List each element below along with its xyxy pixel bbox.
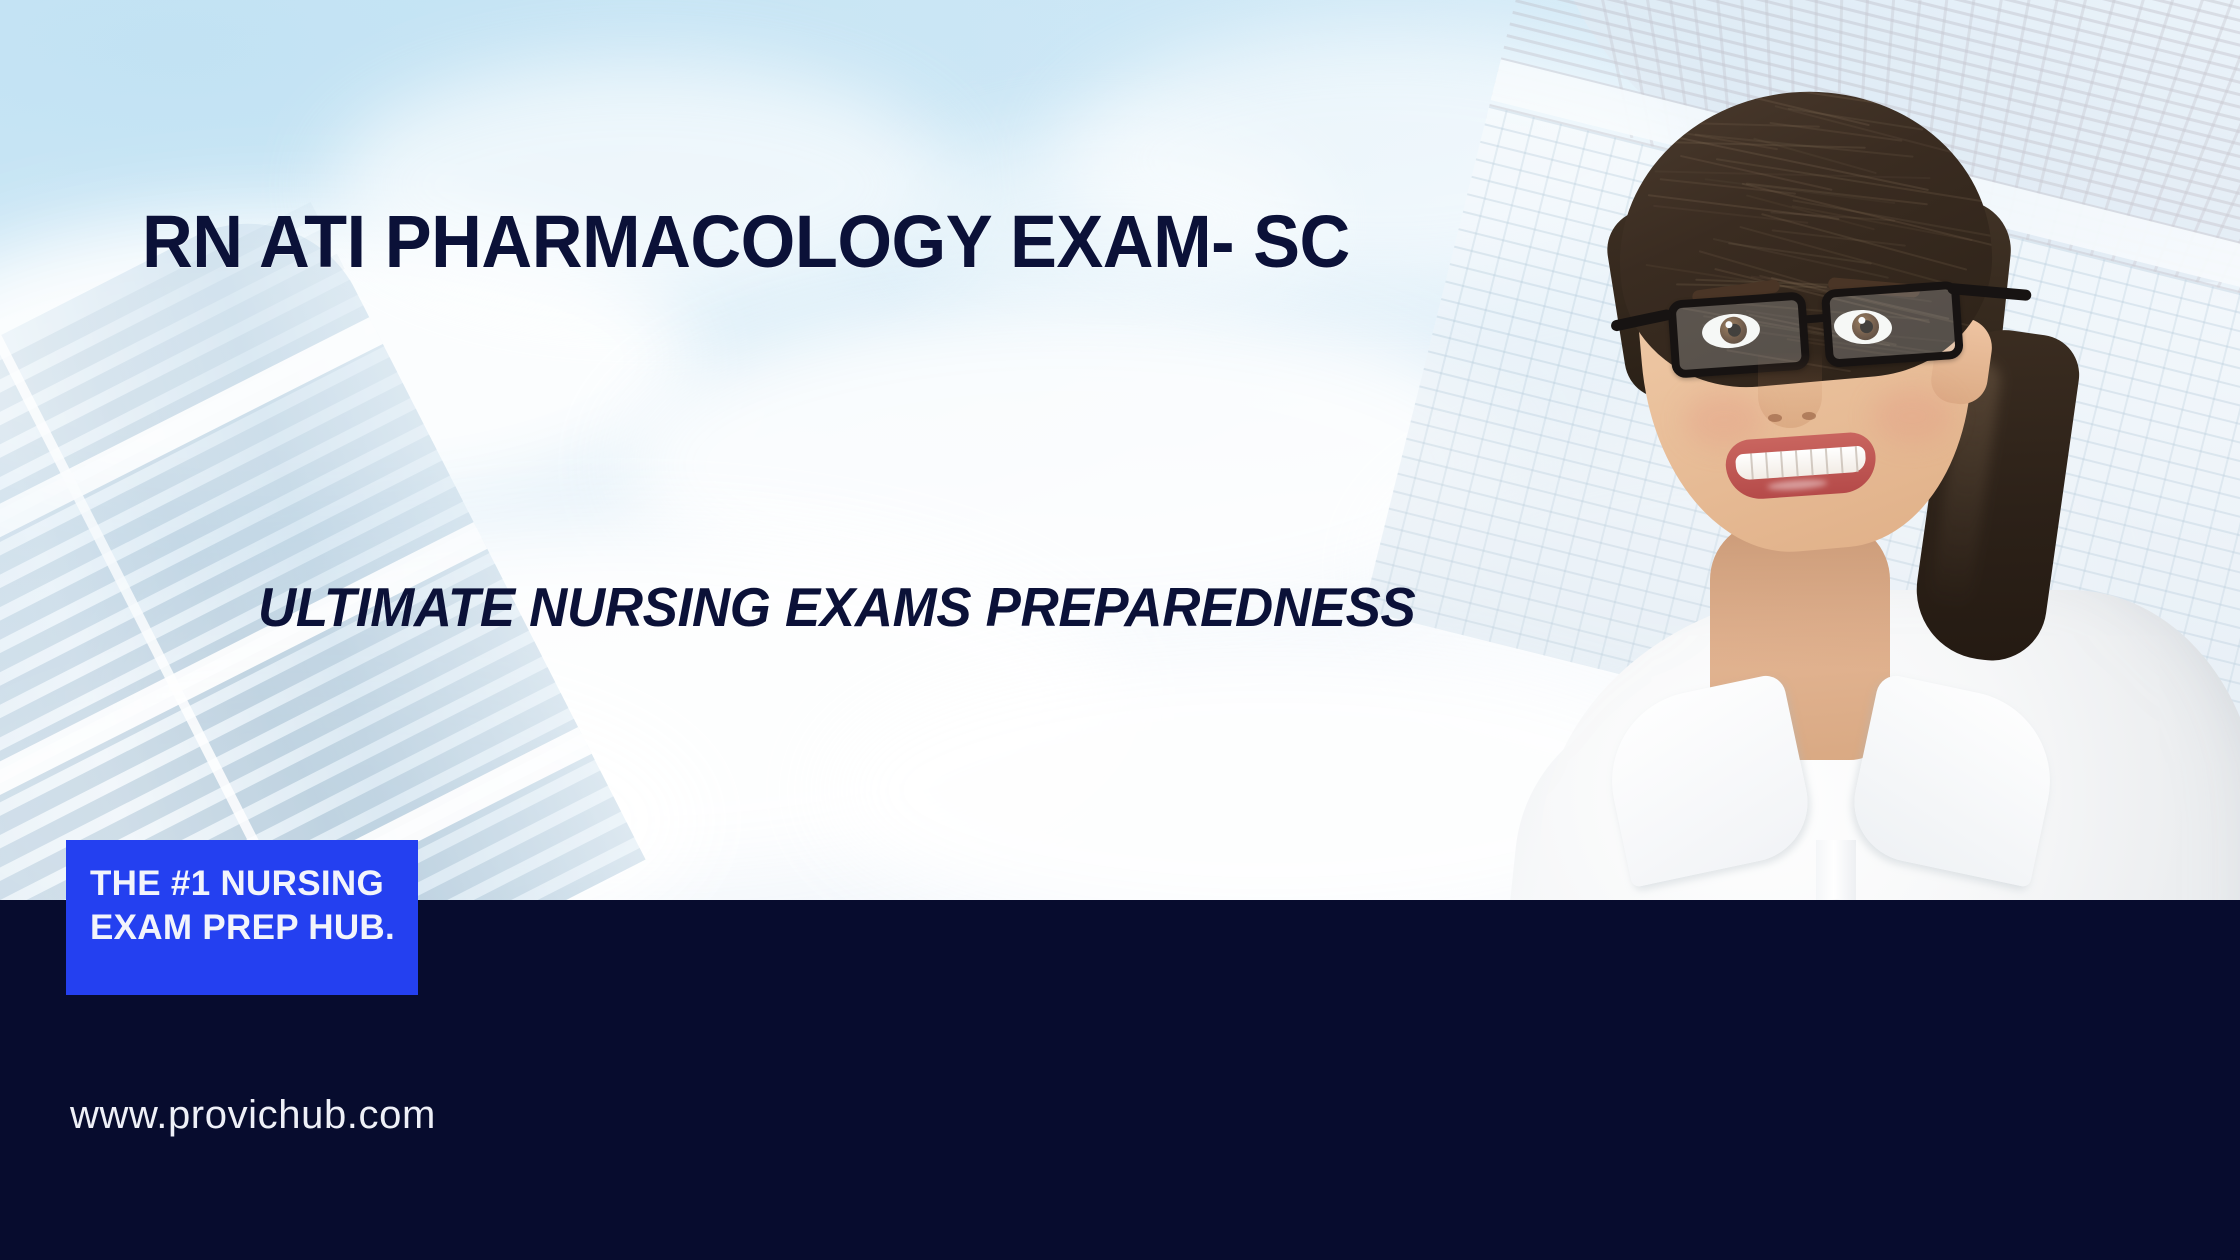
page-title: RN ATI PHARMACOLOGY EXAM- SC — [142, 205, 1350, 279]
website-url: www.provichub.com — [70, 1093, 436, 1138]
cheek-blush — [1872, 388, 1952, 444]
marketing-banner: RN ATI PHARMACOLOGY EXAM- SC ULTIMATE NU… — [0, 0, 2240, 1260]
page-subtitle: ULTIMATE NURSING EXAMS PREPAREDNESS — [258, 580, 1415, 635]
tagline-line-1: THE #1 NURSING — [90, 862, 418, 906]
tagline-line-2: EXAM PREP HUB. — [90, 906, 418, 950]
eyeglass-lens-right — [1821, 281, 1964, 368]
nostril — [1802, 412, 1816, 420]
lip-highlight — [1767, 478, 1827, 491]
tagline-badge: THE #1 NURSING EXAM PREP HUB. — [66, 840, 418, 995]
teeth — [1735, 446, 1866, 481]
nostril — [1768, 414, 1782, 422]
